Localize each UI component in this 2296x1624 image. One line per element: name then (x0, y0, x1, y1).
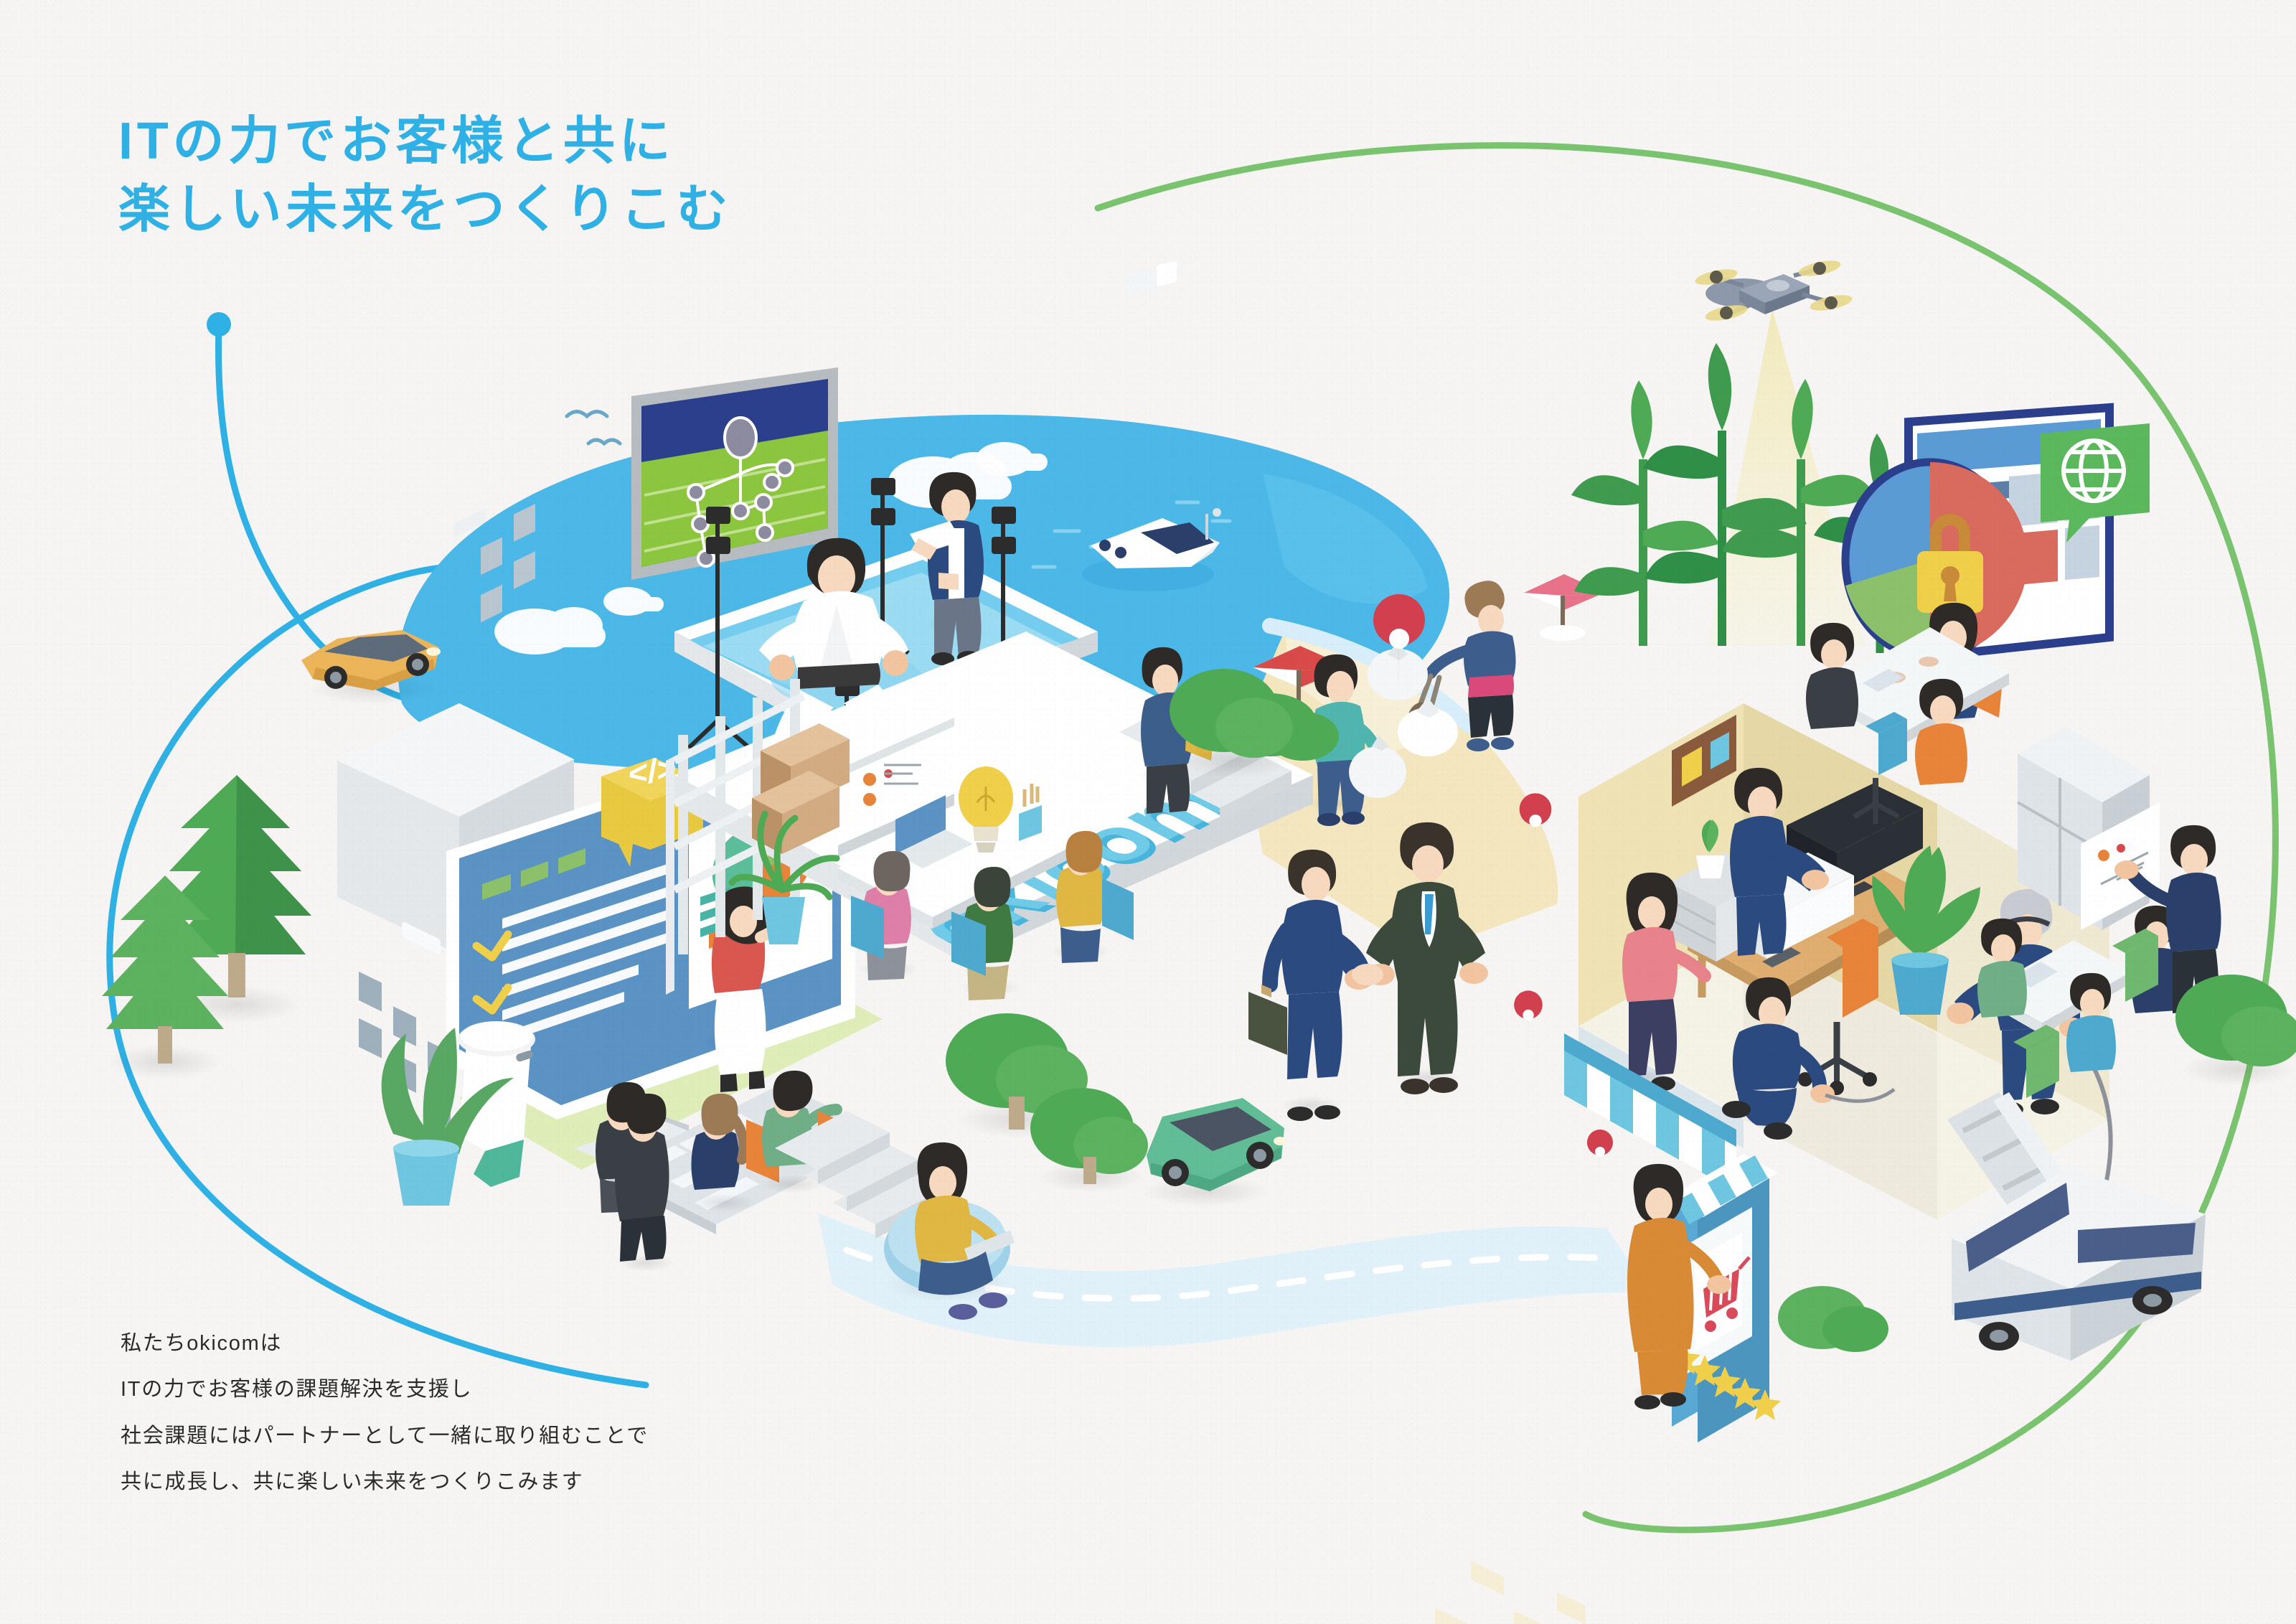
birds-icon (567, 412, 620, 444)
ecommerce-storefront-kiosk[interactable] (1627, 1154, 1888, 1442)
blue-curve-start-dot (207, 312, 231, 337)
body-copy: 私たちokicomは ITの力でお客様の課題解決を支援し 社会課題にはパートナー… (121, 1320, 649, 1506)
body-copy-line-4: 共に成長し、共に楽しい未来をつくりこみます (121, 1459, 649, 1505)
headline-line-2: 楽しい未来をつくりこむ (118, 181, 732, 238)
meeting-attendee-1 (1806, 623, 1858, 729)
page-headline: ITの力でお客様と共に楽しい未来をつくりこむ (118, 108, 732, 244)
headline-line-1: ITの力でお客様と共に (118, 113, 674, 170)
meeting-attendee-2 (1915, 679, 1967, 785)
body-copy-line-3: 社会課題にはパートナーとして一緒に取り組むことで (121, 1413, 649, 1459)
sports-car-yellow[interactable] (301, 630, 441, 705)
body-copy-line-2: ITの力でお客様の課題解決を支援し (121, 1366, 649, 1412)
shuttle-bus[interactable] (1952, 1167, 2206, 1361)
body-copy-line-1: 私たちokicomは (121, 1320, 649, 1366)
illustration-stage: </> (0, 0, 2296, 1624)
desk-worker-2 (2066, 973, 2116, 1072)
desk-worker-1 (1977, 919, 2027, 1018)
drone (1694, 258, 1853, 324)
